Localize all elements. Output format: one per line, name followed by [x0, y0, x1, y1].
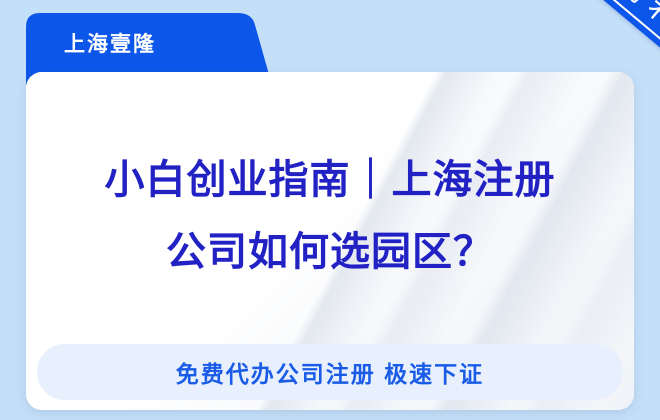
brand-tab-label: 上海壹隆 — [64, 31, 156, 59]
headline-line-2: 公司如何选园区？ — [26, 216, 634, 288]
footer-cta-label: 免费代办公司注册 极速下证 — [37, 344, 623, 400]
footer-cta-pill[interactable]: 免费代办公司注册 极速下证 — [37, 344, 623, 400]
content-card: 小白创业指南｜上海注册 公司如何选园区？ 免费代办公司注册 极速下证 — [26, 72, 634, 410]
promo-banner: 上海壹隆 小白创业指南｜上海注册 公司如何选园区？ 免费代办公司注册 极速下证 … — [0, 0, 660, 420]
headline-line-1: 小白创业指南｜上海注册 — [26, 144, 634, 216]
headline-block: 小白创业指南｜上海注册 公司如何选园区？ — [26, 144, 634, 288]
corner-ribbon-label: 不成功 不收费 — [585, 0, 660, 57]
